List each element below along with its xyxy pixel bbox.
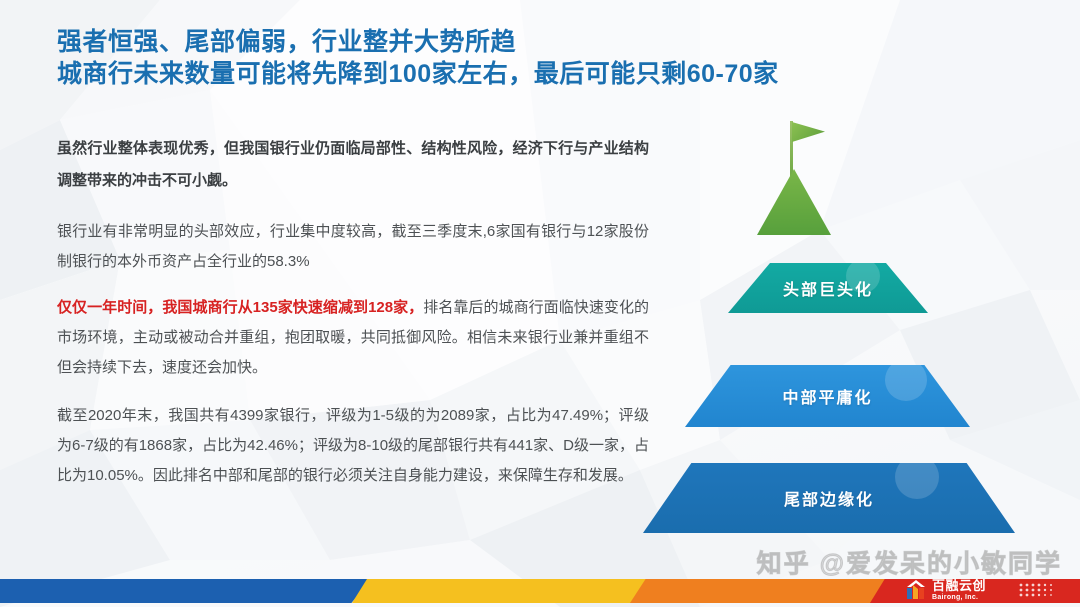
logo-name-en: Bairong, Inc.: [932, 594, 986, 601]
title-line-2: 城商行未来数量可能将先降到100家左右，最后可能只剩60-70家: [57, 58, 957, 90]
pyramid-tier-middle[interactable]: 中部平庸化: [685, 365, 970, 427]
pyramid-peak: [757, 169, 831, 235]
logo-mark-svg: [905, 579, 927, 601]
logo-text-block: 百融云创 Bairong, Inc.: [932, 579, 986, 601]
pyramid-tier-top-label: 头部巨头化: [783, 276, 873, 300]
bokeh-circle: [885, 359, 927, 401]
body-content: 虽然行业整体表现优秀，但我国银行业仍面临局部性、结构性风险，经济下行与产业结构调…: [57, 133, 649, 507]
logo-name-cn: 百融云创: [932, 579, 986, 592]
pyramid-tier-top[interactable]: 头部巨头化: [728, 263, 928, 313]
bokeh-circle: [895, 455, 939, 499]
paragraph-3-highlight: 仅仅一年时间，我国城商行从135家快速缩减到128家，: [57, 299, 423, 316]
bairong-logo-icon: [905, 579, 927, 601]
paragraph-1: 虽然行业整体表现优秀，但我国银行业仍面临局部性、结构性风险，经济下行与产业结构调…: [57, 133, 649, 197]
dot-pattern-svg: [1018, 581, 1064, 599]
paragraph-2: 银行业有非常明显的头部效应，行业集中度较高，截至三季度末,6家国有银行与12家股…: [57, 217, 649, 277]
watermark: 知乎 @爱发呆的小敏同学: [757, 544, 1062, 580]
paragraph-3: 仅仅一年时间，我国城商行从135家快速缩减到128家，排名靠后的城商行面临快速变…: [57, 293, 649, 383]
logo-dot-pattern: [1018, 581, 1064, 599]
slide-title: 强者恒强、尾部偏弱，行业整并大势所趋 城商行未来数量可能将先降到100家左右，最…: [57, 26, 957, 90]
pyramid-tier-middle-label: 中部平庸化: [782, 384, 872, 408]
footer-segment-yellow: [352, 579, 652, 603]
company-logo: 百融云创 Bairong, Inc.: [905, 577, 986, 603]
pyramid-tier-bottom[interactable]: 尾部边缘化: [643, 463, 1015, 533]
pyramid-tier-bottom-label: 尾部边缘化: [784, 486, 874, 510]
flag-icon: [792, 122, 825, 142]
paragraph-4: 截至2020年末，我国共有4399家银行，评级为1-5级的为2089家，占比为4…: [57, 401, 649, 491]
slide-canvas: 强者恒强、尾部偏弱，行业整并大势所趋 城商行未来数量可能将先降到100家左右，最…: [0, 0, 1080, 607]
footer-segment-orange: [630, 579, 890, 603]
title-line-1: 强者恒强、尾部偏弱，行业整并大势所趋: [57, 26, 957, 58]
footer-segment-blue: [0, 579, 370, 603]
pyramid-diagram: 头部巨头化 中部平庸化 尾部边缘化: [640, 105, 1040, 505]
